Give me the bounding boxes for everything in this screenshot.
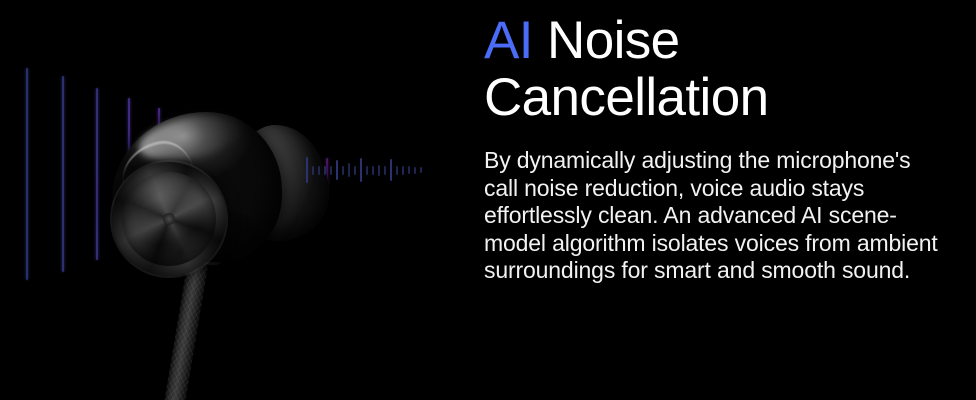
noise-funnel-bar [26, 68, 28, 280]
clean-waveform-bar [348, 163, 350, 177]
clean-waveform-bar [378, 165, 380, 176]
copy-panel: AI Noise Cancellation By dynamically adj… [484, 0, 954, 400]
clean-waveform-bar [324, 166, 326, 175]
earphone-product-image: R [104, 104, 334, 400]
headline-accent-ai: AI [484, 11, 533, 70]
clean-waveform-bar [336, 160, 338, 180]
clean-waveform-bar [360, 158, 362, 182]
description-paragraph: By dynamically adjusting the microphone'… [484, 126, 939, 285]
ai-noise-cancellation-banner: R AI Noise Cancellation By dynamically a… [0, 0, 976, 400]
noise-funnel-bar [62, 76, 64, 272]
clean-waveform-bar [420, 167, 422, 173]
clean-waveform-bar [312, 166, 314, 175]
clean-waveform-bar [330, 166, 332, 175]
clean-waveform-bar [306, 157, 308, 183]
clean-waveform-bar [366, 166, 368, 175]
clean-waveform-bar [402, 166, 404, 175]
noise-funnel-bar [96, 88, 98, 260]
clean-audio-waveform-graphic [306, 140, 428, 200]
clean-waveform-bar [342, 166, 344, 175]
clean-waveform-bar [354, 166, 356, 175]
clean-waveform-bar [318, 166, 320, 175]
clean-waveform-bar [414, 167, 416, 174]
clean-waveform-bar [396, 166, 398, 175]
driver-disc-hub [163, 213, 175, 225]
clean-waveform-bar [384, 166, 386, 175]
clean-waveform-bar [390, 159, 392, 181]
clean-waveform-bar [372, 166, 374, 175]
page-title: AI Noise Cancellation [484, 0, 954, 126]
clean-waveform-bar [408, 166, 410, 174]
